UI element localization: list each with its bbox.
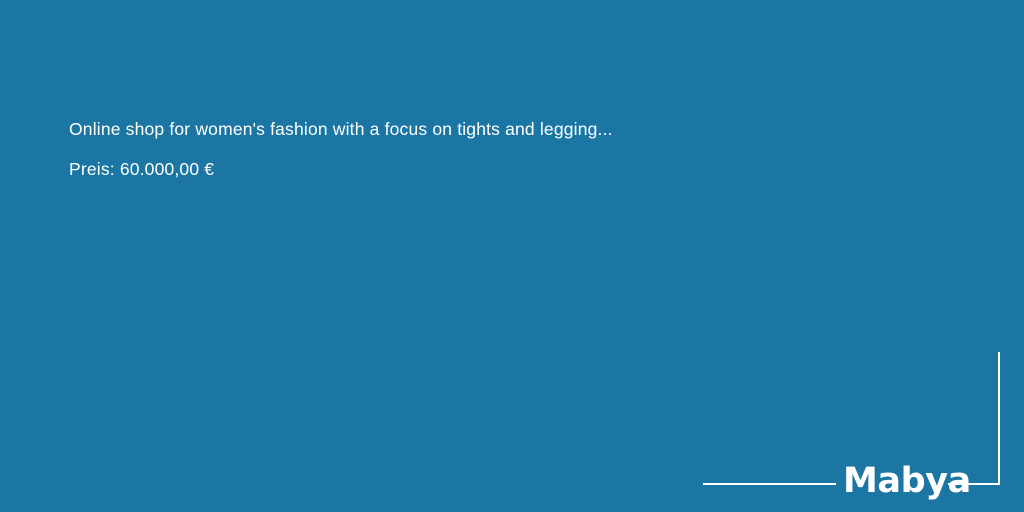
promo-card: Online shop for women's fashion with a f… [0,0,1024,512]
listing-text-block: Online shop for women's fashion with a f… [69,118,769,180]
brand-rule-left [703,483,836,485]
listing-description: Online shop for women's fashion with a f… [69,118,769,140]
brand-rule-vertical [998,352,1000,485]
brand-wordmark: Mabya [843,461,971,501]
listing-price: Preis: 60.000,00 € [69,140,769,180]
brand-lockup: Mabya [0,0,1024,512]
brand-rule-right [948,483,999,485]
